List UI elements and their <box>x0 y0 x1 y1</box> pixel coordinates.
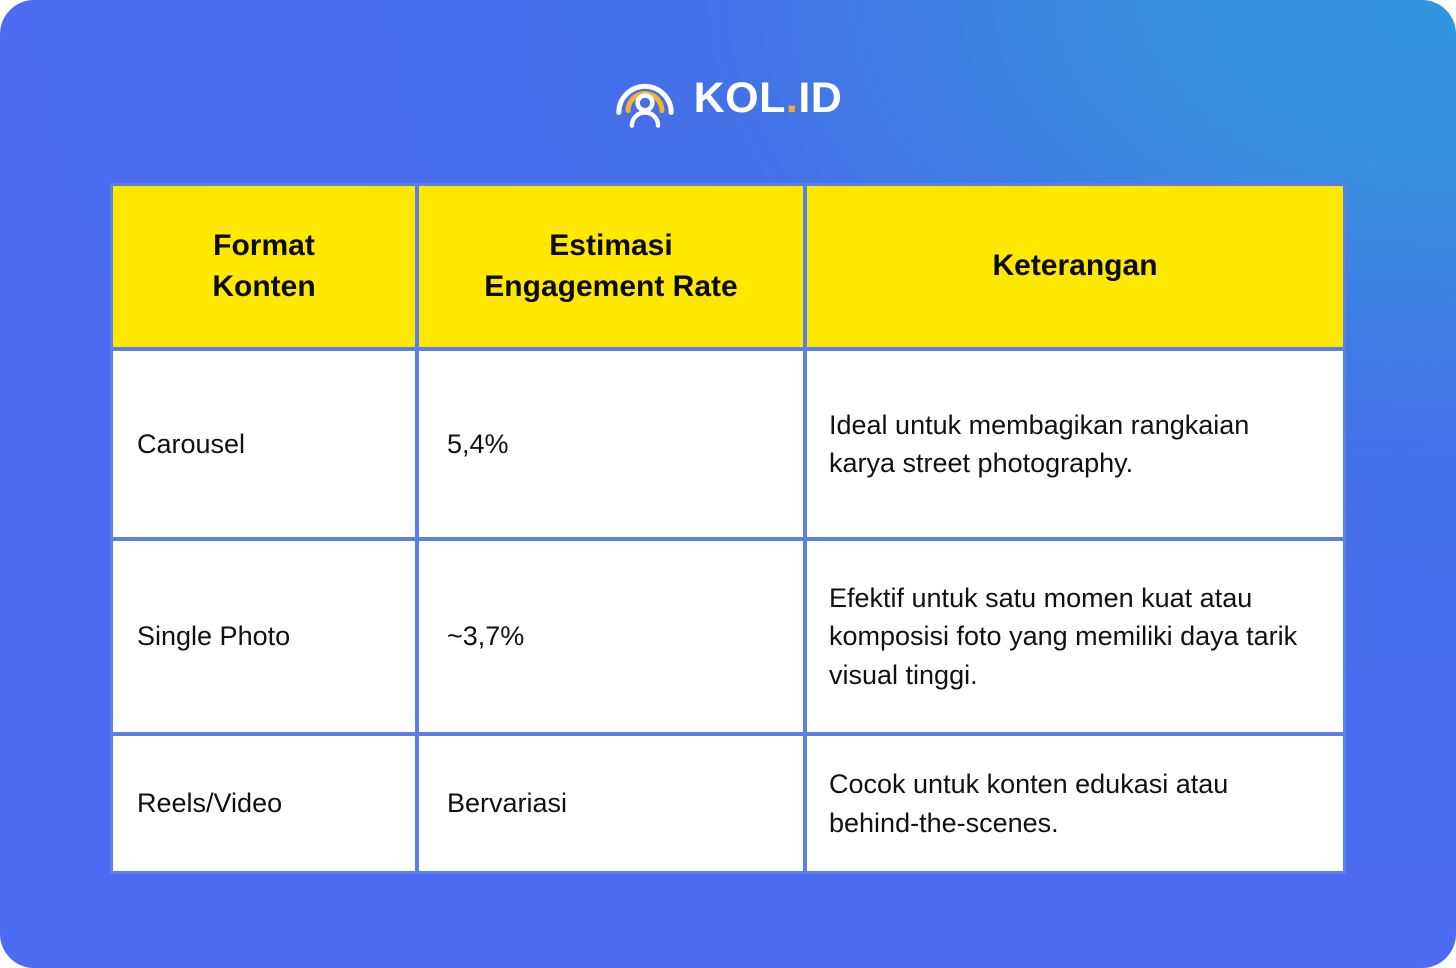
slide-panel: KOL.ID Format Konten Estimasi Engagement… <box>0 0 1456 968</box>
content-format-table: Format Konten Estimasi Engagement Rate K… <box>110 183 1346 874</box>
table-row: Carousel 5,4% Ideal untuk membagikan ran… <box>113 349 1343 539</box>
column-header-format: Format Konten <box>113 186 417 349</box>
engagement-rate-table: Format Konten Estimasi Engagement Rate K… <box>113 186 1343 871</box>
cell-format: Reels/Video <box>113 734 417 871</box>
brand-header: KOL.ID <box>0 62 1456 134</box>
table-row: Reels/Video Bervariasi Cocok untuk konte… <box>113 734 1343 871</box>
cell-note: Ideal untuk membagikan rangkaian karya s… <box>805 349 1343 539</box>
table-header-row: Format Konten Estimasi Engagement Rate K… <box>113 186 1343 349</box>
brand-name-part1: KOL <box>694 77 786 120</box>
column-header-rate-line2: Engagement Rate <box>484 270 737 303</box>
kol-person-arc-logo-icon <box>614 67 676 129</box>
table-body: Carousel 5,4% Ideal untuk membagikan ran… <box>113 349 1343 871</box>
table-header: Format Konten Estimasi Engagement Rate K… <box>113 186 1343 349</box>
table-row: Single Photo ~3,7% Efektif untuk satu mo… <box>113 539 1343 734</box>
cell-rate: 5,4% <box>417 349 805 539</box>
cell-format: Carousel <box>113 349 417 539</box>
column-header-format-line2: Konten <box>212 270 315 303</box>
brand-dot: . <box>786 77 798 120</box>
cell-note: Cocok untuk konten edukasi atau behind-t… <box>805 734 1343 871</box>
column-header-keterangan: Keterangan <box>805 186 1343 349</box>
column-header-format-line1: Format <box>213 229 315 262</box>
column-header-rate-line1: Estimasi <box>549 229 672 262</box>
cell-format: Single Photo <box>113 539 417 734</box>
cell-rate: ~3,7% <box>417 539 805 734</box>
cell-note: Efektif untuk satu momen kuat atau kompo… <box>805 539 1343 734</box>
cell-rate: Bervariasi <box>417 734 805 871</box>
brand-name-part2: ID <box>798 77 842 120</box>
column-header-rate: Estimasi Engagement Rate <box>417 186 805 349</box>
brand-wordmark: KOL.ID <box>694 77 843 120</box>
